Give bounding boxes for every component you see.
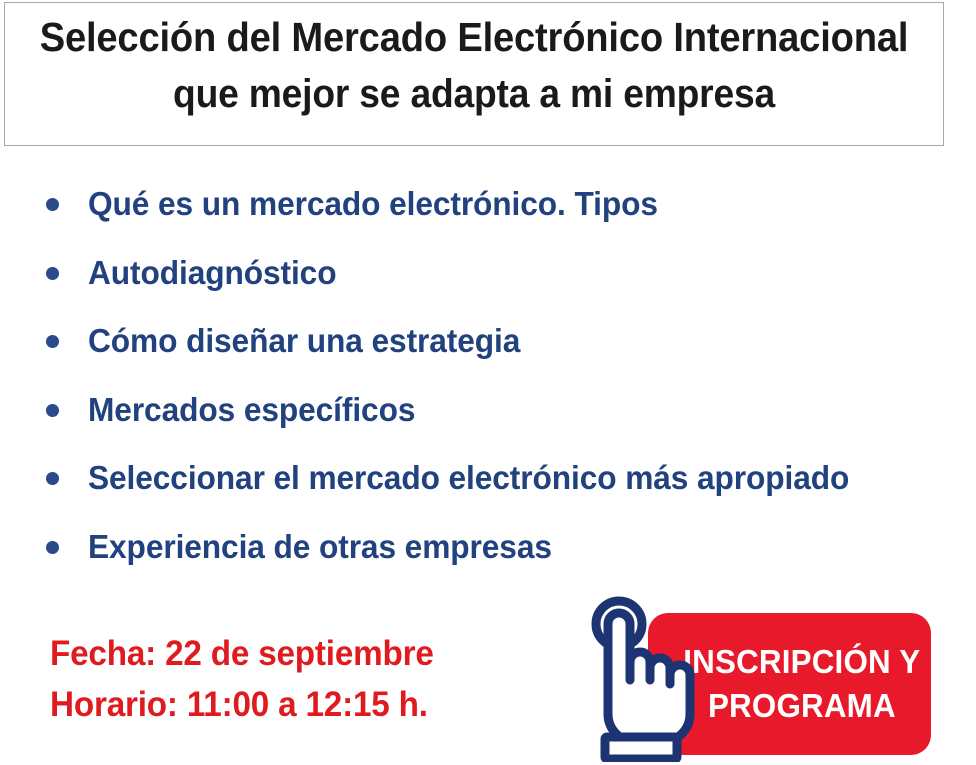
bullet-dot-icon [46, 267, 59, 280]
agenda-item-label: Qué es un mercado electrónico. Tipos [88, 186, 658, 222]
agenda-list: Qué es un mercado electrónico. Tipos Aut… [0, 170, 976, 581]
list-item: Qué es un mercado electrónico. Tipos [0, 170, 976, 239]
event-date: Fecha: 22 de septiembre [50, 628, 434, 679]
agenda-item-label: Experiencia de otras empresas [88, 529, 552, 565]
page-title-line-2: que mejor se adapta a mi empresa [38, 66, 910, 123]
bullet-dot-icon [46, 198, 59, 211]
event-time: Horario: 11:00 a 12:15 h. [50, 679, 434, 730]
list-item: Mercados específicos [0, 376, 976, 445]
list-item: Autodiagnóstico [0, 239, 976, 308]
agenda-item-label: Seleccionar el mercado electrónico más a… [88, 460, 849, 496]
registration-cta[interactable]: INSCRIPCIÓN Y PROGRAMA [575, 596, 935, 762]
list-item: Experiencia de otras empresas [0, 513, 976, 582]
bullet-dot-icon [46, 472, 59, 485]
schedule-block: Fecha: 22 de septiembre Horario: 11:00 a… [50, 628, 454, 730]
list-item: Cómo diseñar una estrategia [0, 307, 976, 376]
seminar-promo-poster: Selección del Mercado Electrónico Intern… [0, 0, 976, 765]
pointing-hand-tap-icon [575, 596, 695, 762]
cta-label-line-1: INSCRIPCIÓN Y [683, 640, 920, 684]
agenda-item-label: Autodiagnóstico [88, 255, 336, 291]
page-title-line-1: Selección del Mercado Electrónico Intern… [38, 9, 910, 66]
bullet-dot-icon [46, 404, 59, 417]
agenda-item-label: Cómo diseñar una estrategia [88, 323, 520, 359]
list-item: Seleccionar el mercado electrónico más a… [0, 444, 976, 513]
header-title-box: Selección del Mercado Electrónico Intern… [4, 2, 944, 146]
cta-label-line-2: PROGRAMA [708, 684, 896, 728]
bullet-dot-icon [46, 335, 59, 348]
bullet-dot-icon [46, 541, 59, 554]
agenda-item-label: Mercados específicos [88, 392, 415, 428]
